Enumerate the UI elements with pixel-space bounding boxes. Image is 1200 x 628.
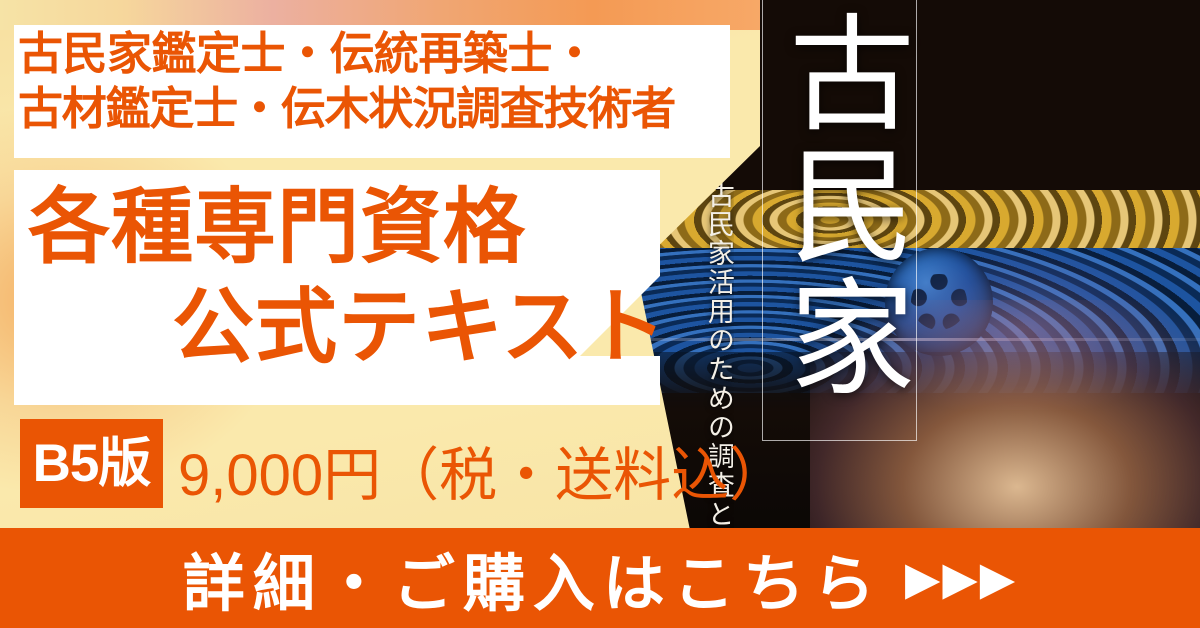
- certifications-text: 古民家鑑定士・伝統再築士・ 古材鑑定士・伝木状況調査技術者: [18, 27, 730, 137]
- book-title: 古民家: [772, 8, 906, 404]
- format-badge: B5版: [20, 419, 163, 508]
- certifications-line-2: 古材鑑定士・伝木状況調査技術者: [18, 82, 730, 137]
- page-title: 各種専門資格 公式テキスト: [14, 178, 674, 378]
- headline-line-1: 各種専門資格: [14, 178, 674, 278]
- promo-banner: 伝統構法、古民家活用のための調査と再生の 古民家 古民家鑑定士・伝統再築士・ 古…: [0, 0, 1200, 628]
- certifications-line-1: 古民家鑑定士・伝統再築士・: [18, 27, 730, 82]
- cta-link[interactable]: [0, 528, 1200, 628]
- headline-line-2: 公式テキスト: [14, 278, 674, 378]
- price-text: 9,000円（税・送料込）: [178, 428, 787, 512]
